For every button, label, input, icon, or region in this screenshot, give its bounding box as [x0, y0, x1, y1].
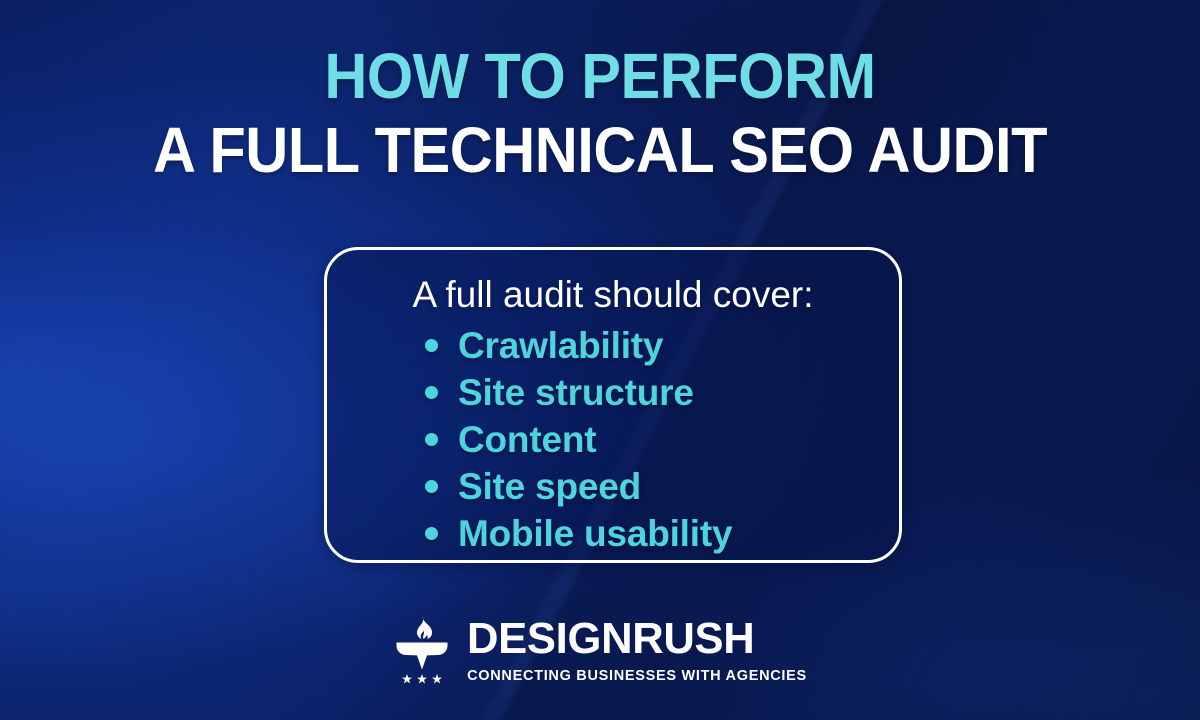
list-item: Crawlability [425, 322, 732, 369]
designrush-logo: DESIGNRUSH CONNECTING BUSINESSES WITH AG… [0, 614, 1200, 686]
headline-line-1: HOW TO PERFORM [42, 44, 1158, 108]
list-item: Content [425, 416, 732, 463]
headline-line-2: A FULL TECHNICAL SEO AUDIT [42, 118, 1158, 182]
slide-canvas: HOW TO PERFORM A FULL TECHNICAL SEO AUDI… [0, 0, 1200, 720]
slide-content: HOW TO PERFORM A FULL TECHNICAL SEO AUDI… [0, 0, 1200, 720]
list-item-label: Mobile usability [458, 513, 732, 555]
list-item-label: Site structure [458, 372, 694, 414]
bullet-dot-icon [425, 527, 438, 540]
bullet-dot-icon [425, 339, 438, 352]
list-item: Mobile usability [425, 510, 732, 557]
page-title: HOW TO PERFORM A FULL TECHNICAL SEO AUDI… [0, 44, 1200, 182]
audit-checklist-title: A full audit should cover: [327, 274, 899, 316]
designrush-wordmark: DESIGNRUSH [467, 617, 803, 661]
bullet-dot-icon [425, 433, 438, 446]
list-item-label: Content [458, 419, 596, 461]
list-item-label: Site speed [458, 466, 641, 508]
designrush-tagline: CONNECTING BUSINESSES WITH AGENCIES [467, 668, 807, 684]
bullet-dot-icon [425, 480, 438, 493]
designrush-flame-chevron-stars-icon [393, 614, 451, 686]
star-icon [402, 674, 442, 684]
list-item: Site speed [425, 463, 732, 510]
designrush-logo-text: DESIGNRUSH CONNECTING BUSINESSES WITH AG… [467, 617, 807, 684]
list-item-label: Crawlability [458, 325, 663, 367]
audit-checklist-list: Crawlability Site structure Content Site… [425, 322, 732, 557]
list-item: Site structure [425, 369, 732, 416]
bullet-dot-icon [425, 386, 438, 399]
audit-checklist-box: A full audit should cover: Crawlability … [324, 247, 902, 563]
